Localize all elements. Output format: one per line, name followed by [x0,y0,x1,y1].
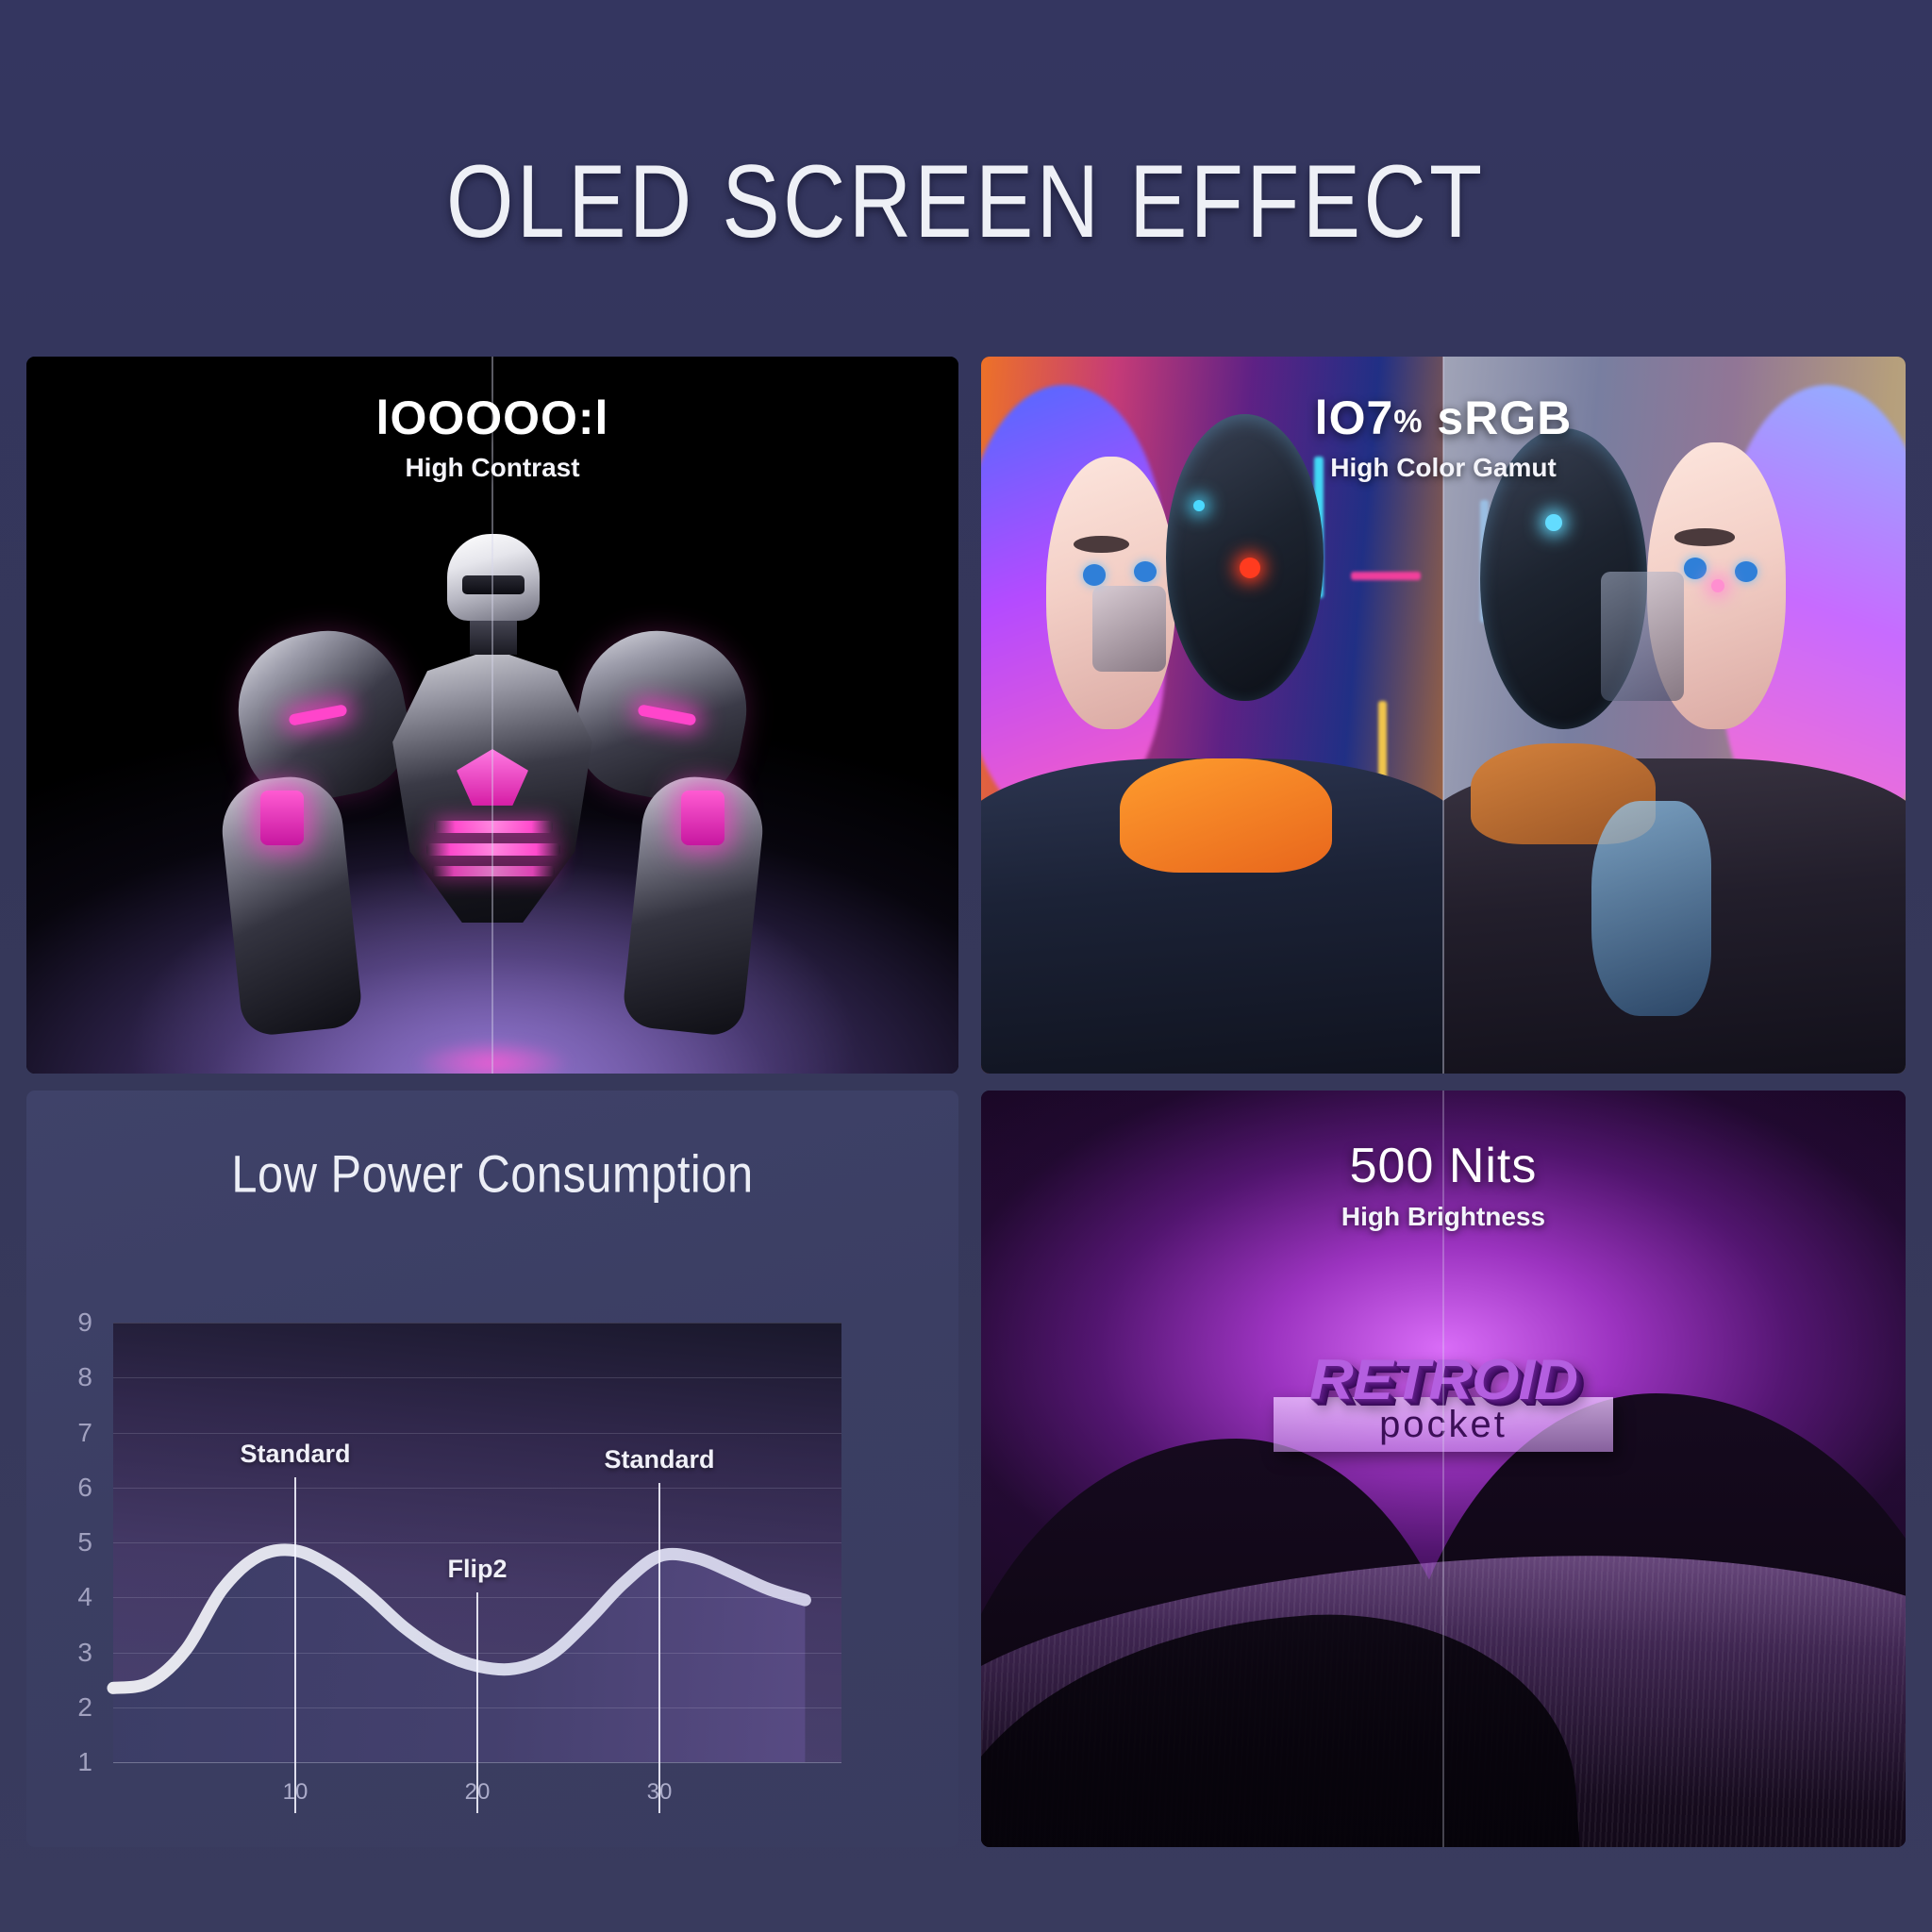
chart-gridline [113,1377,841,1378]
chart-annotation-marker [476,1592,478,1813]
oled-feature-page: OLED SCREEN EFFECT lOOOOO:l High [0,0,1932,1932]
page-title-wrap: OLED SCREEN EFFECT [0,158,1932,247]
chart-annotation-label: Standard [604,1445,714,1474]
retroid-pocket-logo: RETROID pocket [1274,1347,1613,1452]
chart-title: Low Power Consumption [26,1143,958,1205]
panel-color-gamut[interactable]: lO7% sRGB High Color Gamut [981,357,1906,1074]
retroid-wordmark: RETROID [1260,1347,1627,1412]
panel-high-brightness[interactable]: RETROID pocket 500 Nits High Brightness [981,1091,1906,1847]
mech-warrior-illustration [191,508,794,1074]
chart-annotation-label: Flip2 [447,1555,507,1584]
feature-panel-grid: lOOOOO:l High Contrast [26,357,1906,1847]
panel-high-contrast[interactable]: lOOOOO:l High Contrast [26,357,958,1074]
chart-y-tick-label: 2 [77,1692,92,1723]
panel-low-power[interactable]: Low Power Consumption [26,1091,958,1847]
cyberpunk-portrait-right [1443,357,1906,1074]
chart-annotation-marker [294,1477,296,1813]
chart-gridline [113,1488,841,1489]
chart-gridline [113,1323,841,1324]
chart-gridline [113,1542,841,1543]
chart-y-tick-label: 5 [77,1527,92,1557]
chart-y-tick-label: 1 [77,1747,92,1777]
chart-y-tick-label: 9 [77,1307,92,1338]
chart-y-tick-label: 7 [77,1418,92,1448]
page-title: OLED SCREEN EFFECT [446,143,1485,262]
chart-annotation-marker [658,1483,660,1813]
chart-annotation-label: Standard [240,1440,350,1469]
chart-y-tick-label: 8 [77,1362,92,1392]
cyberpunk-portrait-left [981,357,1443,1074]
chart-y-tick-label: 3 [77,1638,92,1668]
chart-gridline [113,1433,841,1434]
power-consumption-chart: 987654321102030StandardFlip2Standard [113,1323,841,1762]
chart-y-tick-label: 6 [77,1473,92,1503]
chart-y-tick-label: 4 [77,1582,92,1612]
